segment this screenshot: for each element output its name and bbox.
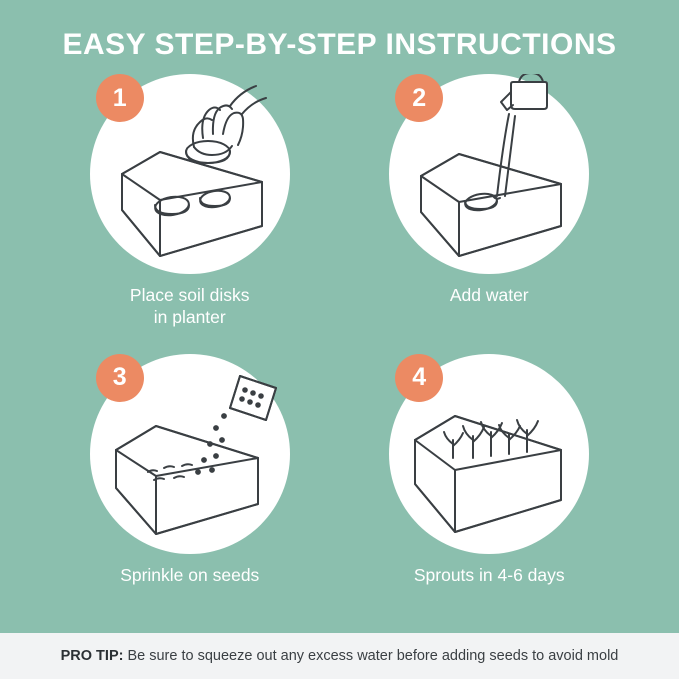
step-1-number-badge: 1 xyxy=(96,74,144,122)
instructions-poster: EASY STEP-BY-STEP INSTRUCTIONS xyxy=(0,0,679,679)
step-1: 1 Place soil disks in planter xyxy=(40,74,340,354)
step-4-caption-line1: Sprouts in 4-6 days xyxy=(414,564,565,586)
step-2-caption-line1: Add water xyxy=(450,284,529,306)
pro-tip-text: PRO TIP: Be sure to squeeze out any exce… xyxy=(61,648,619,664)
step-2-number-badge: 2 xyxy=(395,74,443,122)
step-1-caption-line1: Place soil disks xyxy=(130,284,250,306)
pro-tip-bar: PRO TIP: Be sure to squeeze out any exce… xyxy=(0,633,679,679)
step-2: 2 Add water xyxy=(340,74,640,354)
step-4-caption: Sprouts in 4-6 days xyxy=(414,564,565,586)
step-2-illustration-wrap: 2 xyxy=(389,74,589,274)
page-title: EASY STEP-BY-STEP INSTRUCTIONS xyxy=(0,28,679,62)
step-3-caption: Sprinkle on seeds xyxy=(120,564,259,586)
step-3-number-badge: 3 xyxy=(96,354,144,402)
step-2-caption: Add water xyxy=(450,284,529,306)
step-3-illustration-wrap: 3 xyxy=(90,354,290,554)
steps-grid: 1 Place soil disks in planter xyxy=(0,72,679,633)
step-1-illustration-wrap: 1 xyxy=(90,74,290,274)
step-4-illustration-wrap: 4 xyxy=(389,354,589,554)
step-1-caption-line2: in planter xyxy=(130,306,250,328)
pro-tip-body: Be sure to squeeze out any excess water … xyxy=(123,648,618,664)
step-4-number-badge: 4 xyxy=(395,354,443,402)
step-3-caption-line1: Sprinkle on seeds xyxy=(120,564,259,586)
step-4: 4 Sprouts in 4-6 days xyxy=(340,354,640,634)
step-1-caption: Place soil disks in planter xyxy=(130,284,250,329)
pro-tip-label: PRO TIP: xyxy=(61,648,124,664)
step-3: 3 Sprinkle on seeds xyxy=(40,354,340,634)
